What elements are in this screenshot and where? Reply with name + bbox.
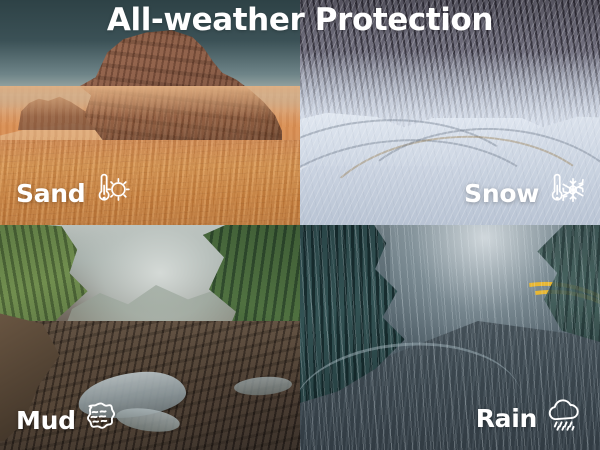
tile-label-mud: Mud (16, 400, 119, 440)
tile-label-sand: Sand (16, 173, 130, 213)
all-weather-protection-banner: All-weather Protection Sand Snow (0, 0, 600, 450)
banner-title: All-weather Protection (0, 2, 600, 38)
tile-label-snow-text: Snow (464, 179, 539, 208)
thermometer-sun-icon (92, 173, 130, 213)
tile-label-mud-text: Mud (16, 406, 76, 435)
weather-tile-grid (0, 0, 600, 450)
mud-splash-icon (83, 400, 119, 440)
tile-label-snow: Snow (464, 173, 586, 213)
cloud-rain-icon (544, 398, 586, 438)
tile-label-sand-text: Sand (16, 179, 85, 208)
thermometer-snowflake-icon (546, 173, 586, 213)
tile-label-rain-text: Rain (476, 404, 537, 433)
tile-label-rain: Rain (476, 398, 586, 438)
